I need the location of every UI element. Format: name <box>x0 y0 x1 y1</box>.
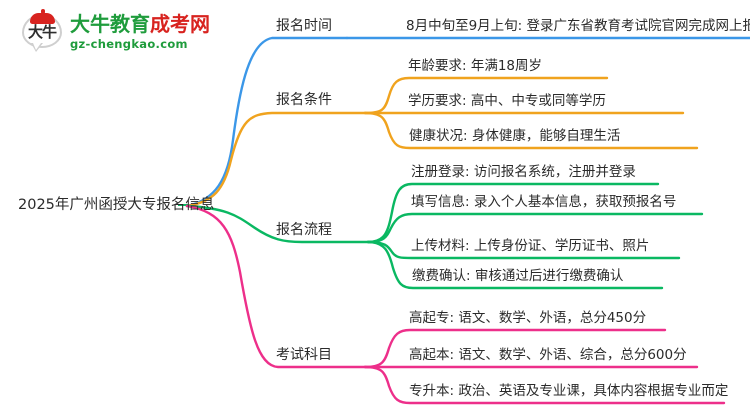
connector-branch-1 <box>187 38 347 206</box>
branch-node-baomingshijian[interactable]: 报名时间 <box>276 18 332 35</box>
logo-mark-text: 大牛 <box>22 21 62 43</box>
leaf-node-liucheng-4[interactable]: 缴费确认: 审核通过后进行缴费确认 <box>412 268 623 285</box>
leaf-node-kemu-1[interactable]: 高起专: 语文、数学、外语，总分450分 <box>409 310 646 327</box>
leaf-node-kemu-3[interactable]: 专升本: 政治、英语及专业课，具体内容根据专业而定 <box>409 383 728 400</box>
leaf-node-shijian-1[interactable]: 8月中旬至9月上旬: 登录广东省教育考试院官网完成网上报名 <box>406 18 750 35</box>
leaf-node-liucheng-2[interactable]: 填写信息: 录入个人基本信息，获取预报名号 <box>411 194 676 211</box>
logo-url: gz-chengkao.com <box>70 36 210 52</box>
logo-title-accent: 成考网 <box>150 12 210 36</box>
mindmap-canvas: 大牛 大牛教育成考网 gz-chengkao.com 2025年广州函授大专报名… <box>0 0 750 410</box>
leaf-node-liucheng-3[interactable]: 上传材料: 上传身份证、学历证书、照片 <box>411 238 649 255</box>
logo-title-main: 大牛教育 <box>70 12 150 36</box>
logo-text-block: 大牛教育成考网 gz-chengkao.com <box>70 12 210 52</box>
leaf-node-tiaojian-2[interactable]: 学历要求: 高中、中专或同等学历 <box>408 93 606 110</box>
leaf-node-kemu-2[interactable]: 高起本: 语文、数学、外语、综合，总分600分 <box>409 347 687 364</box>
mindmap-root-node[interactable]: 2025年广州函授大专报名信息 <box>18 196 214 214</box>
logo-mark-icon: 大牛 <box>22 14 64 54</box>
logo-title: 大牛教育成考网 <box>70 12 210 36</box>
branch-node-baomingtiaojian[interactable]: 报名条件 <box>276 92 332 109</box>
branch-node-baomingliucheng[interactable]: 报名流程 <box>276 222 332 239</box>
site-logo: 大牛 大牛教育成考网 gz-chengkao.com <box>22 12 232 58</box>
leaf-node-tiaojian-1[interactable]: 年龄要求: 年满18周岁 <box>408 58 542 75</box>
connector-branch-2 <box>187 113 365 206</box>
leaf-node-liucheng-1[interactable]: 注册登录: 访问报名系统，注册并登录 <box>411 164 636 181</box>
logo-bubble-tail-shape <box>31 43 43 52</box>
connector-branch-3-child-1 <box>368 184 658 242</box>
leaf-node-tiaojian-3[interactable]: 健康状况: 身体健康，能够自理生活 <box>409 128 620 145</box>
branch-node-kaoshikemu[interactable]: 考试科目 <box>276 347 332 364</box>
